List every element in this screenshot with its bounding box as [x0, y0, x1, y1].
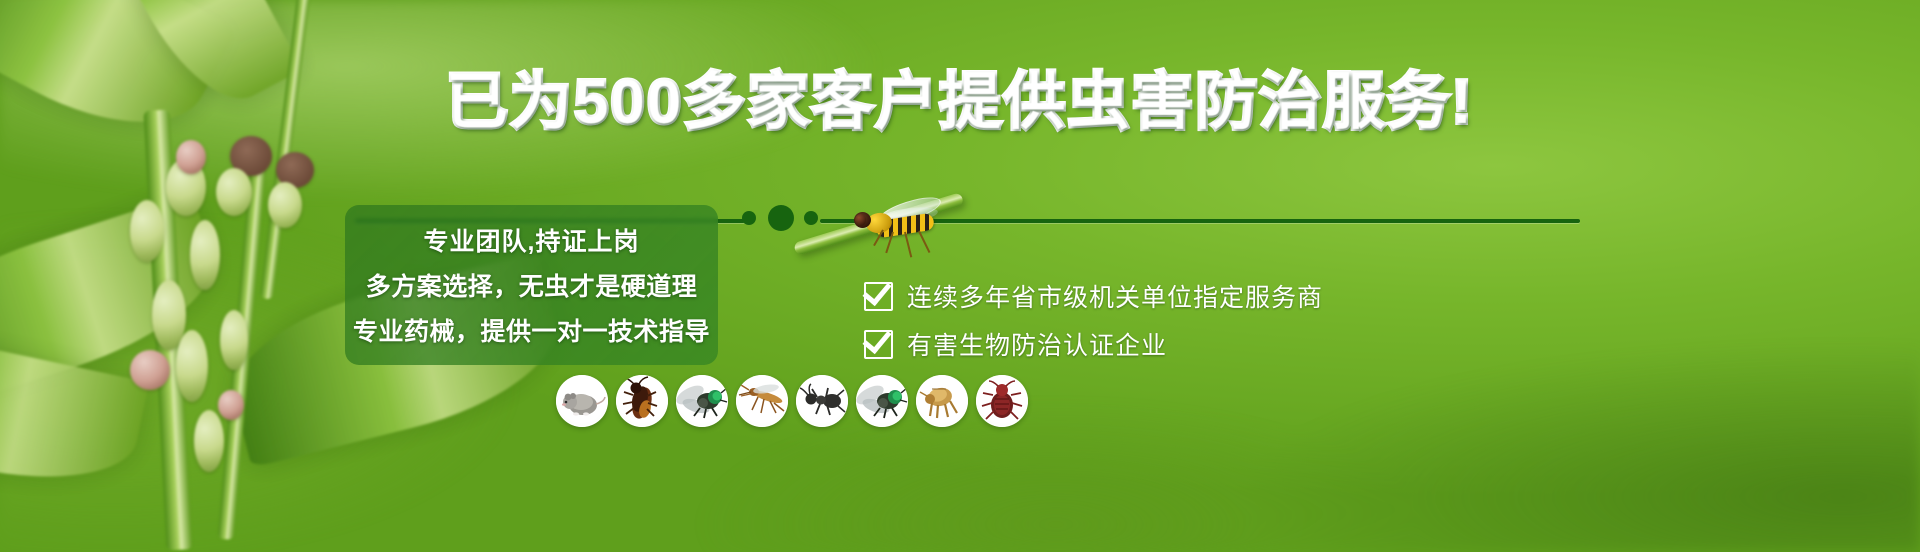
cockroach-icon[interactable] — [616, 375, 668, 427]
pest-icon-row — [556, 375, 1028, 427]
flea-icon[interactable] — [916, 375, 968, 427]
headline-text: 已为500多家客户提供虫害防治服务! — [446, 68, 1474, 137]
checkbox-checked-icon — [864, 282, 893, 311]
mosquito-icon[interactable] — [736, 375, 788, 427]
checkbox-checked-icon — [864, 330, 893, 359]
decor-dot-small-right — [804, 211, 818, 225]
fly-icon[interactable] — [856, 375, 908, 427]
feature-line-1: 专业团队,持证上岗 — [424, 222, 640, 258]
decor-dot-small-left — [742, 211, 756, 225]
fly-icon[interactable] — [676, 375, 728, 427]
checklist: 连续多年省市级机关单位指定服务商 有害生物防治认证企业 — [864, 272, 1323, 368]
feature-line-2: 多方案选择，无虫才是硬道理 — [366, 267, 698, 303]
checklist-label: 有害生物防治认证企业 — [907, 326, 1167, 362]
page-title: 已为500多家客户提供虫害防治服务! — [0, 72, 1920, 134]
ant-icon[interactable] — [796, 375, 848, 427]
bedbug-icon[interactable] — [976, 375, 1028, 427]
list-item: 连续多年省市级机关单位指定服务商 — [864, 272, 1323, 320]
rodent-icon[interactable] — [556, 375, 608, 427]
feature-panel-text: 专业团队,持证上岗 多方案选择，无虫才是硬道理 专业药械，提供一对一技术指导 — [345, 205, 718, 365]
checklist-label: 连续多年省市级机关单位指定服务商 — [907, 278, 1323, 314]
decor-dot-large-center — [768, 205, 794, 231]
hoverfly-icon — [852, 199, 958, 251]
promo-banner: 已为500多家客户提供虫害防治服务! 专业团队,持证上岗 多方案选择，无虫才是硬… — [0, 0, 1920, 552]
feature-line-3: 专业药械，提供一对一技术指导 — [353, 312, 710, 348]
list-item: 有害生物防治认证企业 — [864, 320, 1323, 368]
